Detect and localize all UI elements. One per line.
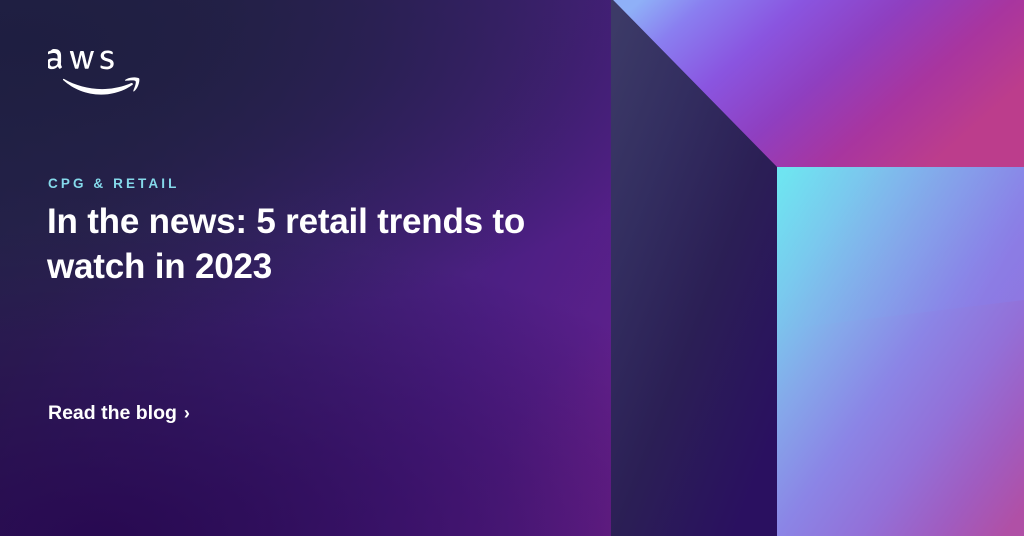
page-title: In the news: 5 retail trends to watch in… bbox=[47, 200, 592, 290]
aws-logo bbox=[48, 40, 146, 104]
chevron-right-icon: › bbox=[184, 404, 190, 422]
category-eyebrow: CPG & RETAIL bbox=[48, 176, 179, 191]
aws-promo-banner: CPG & RETAIL In the news: 5 retail trend… bbox=[0, 0, 1024, 536]
cta-label: Read the blog bbox=[48, 402, 177, 425]
banner-content: CPG & RETAIL In the news: 5 retail trend… bbox=[47, 0, 607, 536]
read-the-blog-link[interactable]: Read the blog › bbox=[48, 402, 190, 425]
aws-smile-icon bbox=[63, 77, 139, 94]
